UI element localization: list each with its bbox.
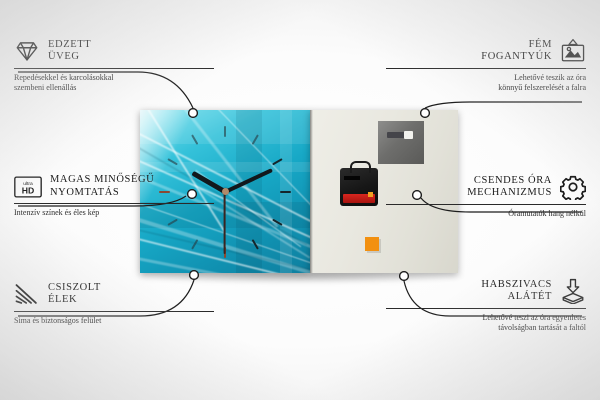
gear-icon [560, 174, 586, 200]
connector-metal-handles [425, 102, 582, 108]
foam-pad-icon [560, 278, 586, 304]
feature-title: EDZETT ÜVEG [48, 39, 91, 64]
picture-hanger-icon [560, 38, 586, 64]
feature-title: MAGAS MINŐSÉGŰ NYOMTATÁS [50, 174, 154, 199]
svg-text:HD: HD [22, 185, 34, 195]
feature-description: Óramutatók hang nélkül [386, 209, 586, 219]
feature-description: Intenzív színek és éles kép [14, 208, 214, 218]
feature-title: HABSZIVACS ALÁTÉT [481, 279, 552, 304]
foam-pad [365, 237, 379, 251]
feature-title: FÉM FOGANTYÚK [481, 39, 552, 64]
feature-header: FÉM FOGANTYÚK [386, 38, 586, 64]
clock-tick [280, 191, 291, 193]
ultra-hd-icon: ultra HD [14, 176, 42, 198]
feature-header: CSENDES ÓRA MECHANIZMUS [386, 174, 586, 200]
feature-title: CSISZOLT ÉLEK [48, 282, 101, 307]
feature-header: CSISZOLT ÉLEK [14, 281, 214, 307]
feature-header: HABSZIVACS ALÁTÉT [386, 278, 586, 304]
feature-header: EDZETT ÜVEG [14, 38, 214, 64]
metal-hanger [378, 121, 424, 164]
clock-tick [224, 126, 226, 137]
feature-header: ultra HD MAGAS MINŐSÉGŰ NYOMTATÁS [14, 174, 214, 199]
clock-center-cap [222, 188, 229, 195]
feature-description: Sima és biztonságos felület [14, 316, 214, 326]
divider [14, 203, 214, 204]
divider [14, 311, 214, 312]
mechanism-hook [350, 161, 371, 173]
feature-polished-edges: CSISZOLT ÉLEK Sima és biztonságos felüle… [14, 281, 214, 326]
infographic-canvas: EDZETT ÜVEG Repedésekkel és karcolásokka… [0, 0, 600, 400]
feature-title: CSENDES ÓRA MECHANIZMUS [467, 175, 552, 200]
divider [386, 308, 586, 309]
mechanism-slot [344, 176, 360, 180]
polished-edge-icon [14, 281, 40, 307]
divider [386, 68, 586, 69]
feature-foam-pad: HABSZIVACS ALÁTÉT Lehetővé teszi az óra … [386, 278, 586, 333]
feature-metal-handles: FÉM FOGANTYÚK Lehetővé teszik az óra kön… [386, 38, 586, 93]
divider [14, 68, 214, 69]
battery [343, 194, 375, 203]
feature-high-quality-print: ultra HD MAGAS MINŐSÉGŰ NYOMTATÁS Intenz… [14, 174, 214, 218]
feature-silent-mechanism: CSENDES ÓRA MECHANIZMUS Óramutatók hang … [386, 174, 586, 219]
feature-tempered-glass: EDZETT ÜVEG Repedésekkel és karcolásokka… [14, 38, 214, 93]
feature-description: Lehetővé teszik az óra könnyű felszerelé… [386, 73, 586, 93]
feature-description: Lehetővé teszi az óra egyenletes távolsá… [386, 313, 586, 333]
panel-edge [310, 110, 313, 273]
diamond-icon [14, 38, 40, 64]
divider [386, 204, 586, 205]
hanger-slot [387, 132, 413, 138]
clock-second-hand [224, 192, 226, 254]
feature-description: Repedésekkel és karcolásokkal szembeni e… [14, 73, 214, 93]
clock-mechanism [340, 168, 378, 206]
